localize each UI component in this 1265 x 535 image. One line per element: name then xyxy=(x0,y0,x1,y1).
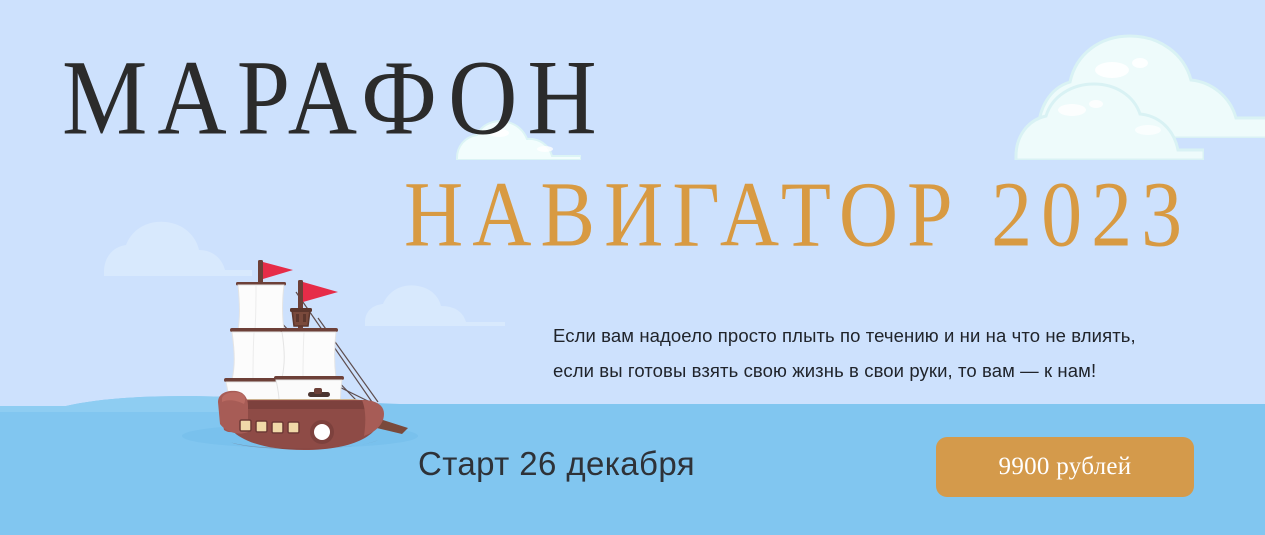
promo-banner: МАРАФОН НАВИГАТОР 2023 xyxy=(0,0,1265,535)
lead-paragraph: Если вам надоело просто плыть по течению… xyxy=(553,318,1213,388)
start-date-label: Старт 26 декабря xyxy=(418,442,695,486)
page-title-line-1: МАРАФОН xyxy=(62,44,607,152)
sailing-ship-illustration xyxy=(196,252,412,452)
page-title-line-2: НАВИГАТОР 2023 xyxy=(404,168,1191,261)
price-button[interactable]: 9900 рублей xyxy=(936,437,1194,497)
lead-line-2: если вы готовы взять свою жизнь в свои р… xyxy=(553,353,1213,388)
lead-line-1: Если вам надоело просто плыть по течению… xyxy=(553,318,1213,353)
